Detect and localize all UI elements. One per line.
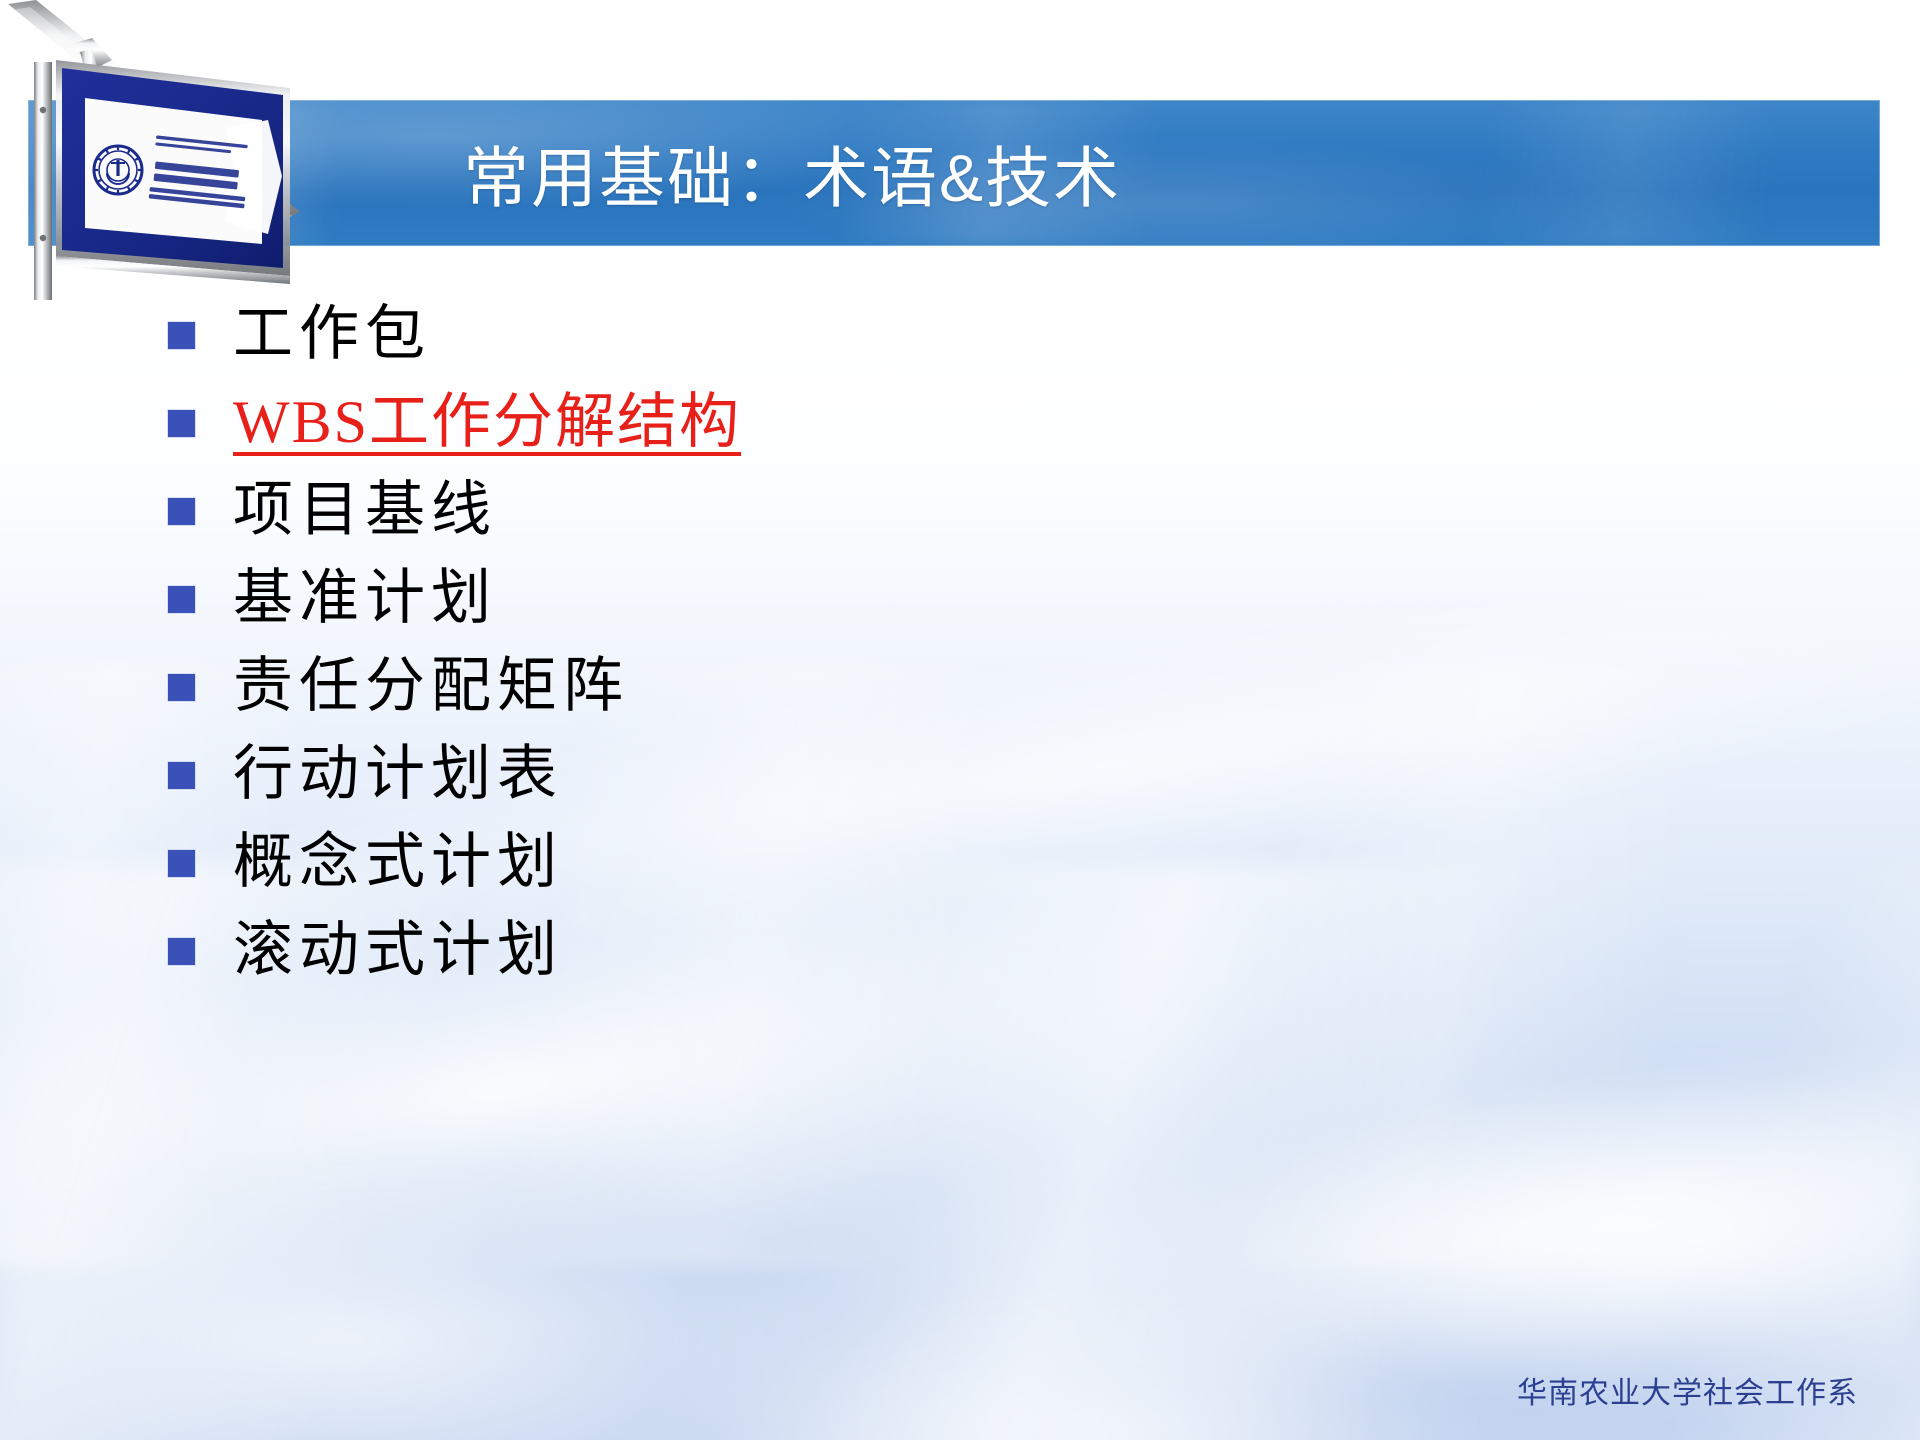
list-item[interactable]: 基准计划 bbox=[140, 556, 1540, 644]
bullet-label: 基准计划 bbox=[233, 556, 497, 640]
square-bullet-icon bbox=[168, 498, 195, 525]
square-bullet-icon bbox=[168, 850, 195, 877]
list-item[interactable]: 责任分配矩阵 bbox=[140, 644, 1540, 732]
bullet-label: 责任分配矩阵 bbox=[233, 644, 629, 728]
square-bullet-icon bbox=[168, 674, 195, 701]
bullet-list: 工作包 WBS工作分解结构 项目基线 基准计划 责任分配矩阵 行动计划表 概念式… bbox=[140, 292, 1540, 996]
slide-canvas: 常用基础：术语&技术 bbox=[0, 0, 1920, 1440]
list-item[interactable]: WBS工作分解结构 bbox=[140, 380, 1540, 468]
list-item[interactable]: 项目基线 bbox=[140, 468, 1540, 556]
square-bullet-icon bbox=[168, 322, 195, 349]
square-bullet-icon bbox=[168, 938, 195, 965]
bullet-label: 工作包 bbox=[233, 292, 431, 376]
list-item[interactable]: 滚动式计划 bbox=[140, 908, 1540, 996]
list-item[interactable]: 工作包 bbox=[140, 292, 1540, 380]
square-bullet-icon bbox=[168, 586, 195, 613]
title-banner: 常用基础：术语&技术 bbox=[28, 100, 1880, 246]
page-title: 常用基础：术语&技术 bbox=[463, 125, 1121, 221]
bullet-label: 行动计划表 bbox=[233, 732, 563, 816]
square-bullet-icon bbox=[168, 762, 195, 789]
bullet-label: 项目基线 bbox=[233, 468, 497, 552]
list-item[interactable]: 概念式计划 bbox=[140, 820, 1540, 908]
list-item[interactable]: 行动计划表 bbox=[140, 732, 1540, 820]
slide-footer: 华南农业大学社会工作系 bbox=[1517, 1368, 1858, 1412]
square-bullet-icon bbox=[168, 410, 195, 437]
bullet-label-hyperlink[interactable]: WBS工作分解结构 bbox=[233, 380, 741, 464]
bullet-label: 概念式计划 bbox=[233, 820, 563, 904]
bullet-label: 滚动式计划 bbox=[233, 908, 563, 992]
